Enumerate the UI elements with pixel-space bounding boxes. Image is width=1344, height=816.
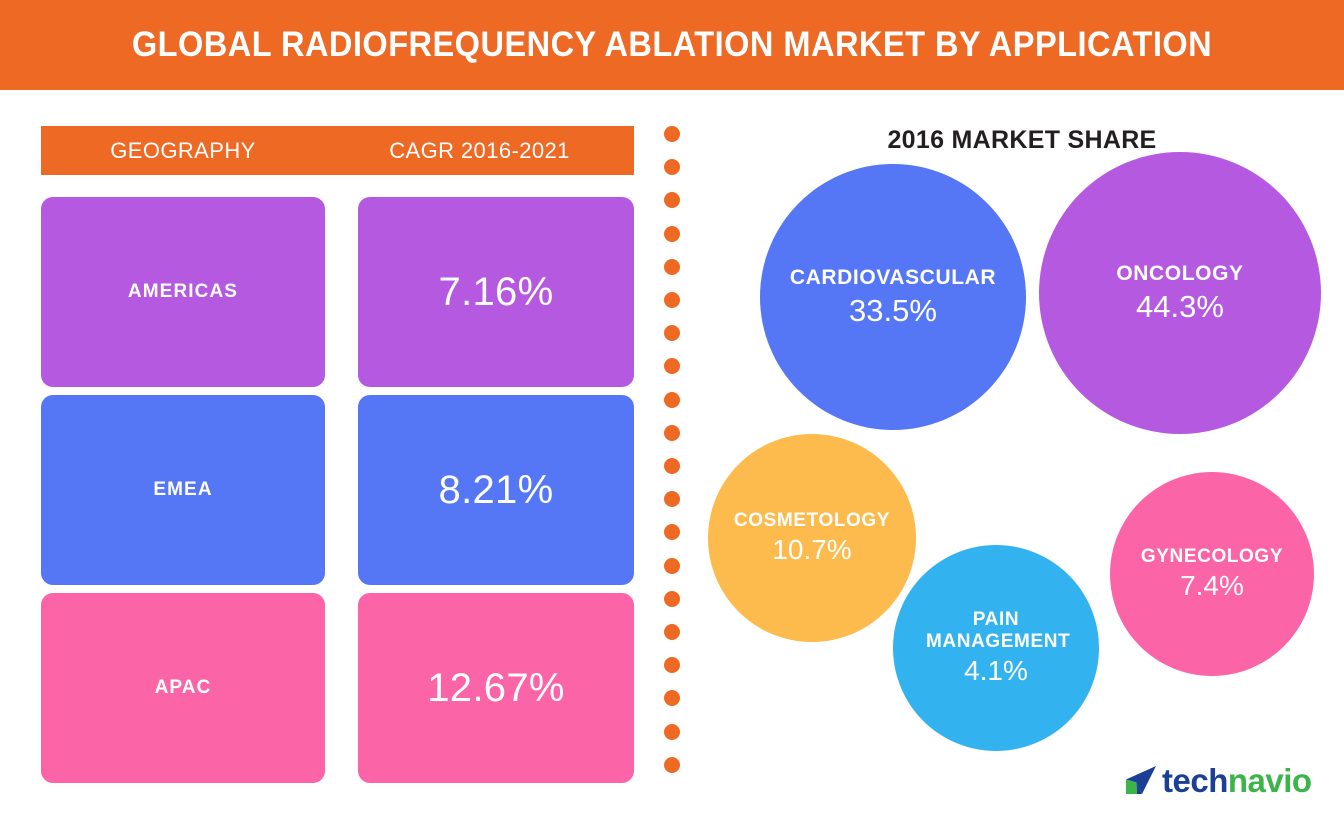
- bubble-label: PAIN MANAGEMENT: [926, 609, 1066, 652]
- bubble-chart-title: 2016 MARKET SHARE: [702, 126, 1342, 160]
- infographic-page: GLOBAL RADIOFREQUENCY ABLATION MARKET BY…: [0, 0, 1344, 816]
- table-row: APAC 12.67%: [41, 593, 634, 783]
- bubble-pain-management: PAIN MANAGEMENT 4.1%: [893, 545, 1099, 751]
- divider-dot: [664, 259, 680, 275]
- bubble-value: 4.1%: [964, 656, 1028, 687]
- bubble-label: GYNECOLOGY: [1117, 546, 1307, 567]
- column-header-geography: GEOGRAPHY: [41, 126, 325, 175]
- cell-geography: AMERICAS: [41, 197, 325, 387]
- bubble-label: ONCOLOGY: [1080, 262, 1280, 286]
- technavio-wordmark: technavio: [1162, 764, 1312, 797]
- table-row: EMEA 8.21%: [41, 395, 634, 585]
- bubble-oncology: ONCOLOGY 44.3%: [1039, 152, 1321, 434]
- cell-geography: APAC: [41, 593, 325, 783]
- divider-dot: [664, 425, 680, 441]
- dotted-divider: [664, 126, 681, 790]
- divider-dot: [664, 491, 680, 507]
- technavio-arrow-icon: [1120, 760, 1160, 800]
- divider-dot: [664, 724, 680, 740]
- divider-dot: [664, 690, 680, 706]
- divider-dot: [664, 591, 680, 607]
- divider-dot: [664, 292, 680, 308]
- divider-dot: [664, 757, 680, 773]
- technavio-logo: technavio: [1120, 757, 1325, 803]
- divider-dot: [664, 558, 680, 574]
- cell-cagr: 12.67%: [358, 593, 634, 783]
- divider-dot: [664, 392, 680, 408]
- bubble-cardiovascular: CARDIOVASCULAR 33.5%: [760, 164, 1026, 430]
- bubble-label: CARDIOVASCULAR: [783, 266, 1003, 290]
- divider-dot: [664, 325, 680, 341]
- logo-text-navio: navio: [1228, 762, 1312, 799]
- bubble-value: 44.3%: [1136, 290, 1224, 324]
- divider-dot: [664, 458, 680, 474]
- divider-dot: [664, 192, 680, 208]
- divider-dot: [664, 159, 680, 175]
- cell-cagr: 7.16%: [358, 197, 634, 387]
- bubble-value: 33.5%: [849, 294, 937, 328]
- bubble-gynecology: GYNECOLOGY 7.4%: [1110, 472, 1314, 676]
- cell-cagr: 8.21%: [358, 395, 634, 585]
- divider-dot: [664, 126, 680, 142]
- table-row: AMERICAS 7.16%: [41, 197, 634, 387]
- bubble-label: COSMETOLOGY: [712, 510, 912, 531]
- divider-dot: [664, 226, 680, 242]
- cagr-table: GEOGRAPHY CAGR 2016-2021 AMERICAS 7.16% …: [41, 126, 634, 790]
- bubble-cosmetology: COSMETOLOGY 10.7%: [708, 434, 916, 642]
- logo-text-tech: tech: [1162, 762, 1228, 799]
- cell-geography: EMEA: [41, 395, 325, 585]
- column-header-cagr: CAGR 2016-2021: [325, 126, 634, 175]
- bubble-value: 7.4%: [1180, 571, 1244, 602]
- page-title: GLOBAL RADIOFREQUENCY ABLATION MARKET BY…: [47, 0, 1297, 90]
- bubble-value: 10.7%: [772, 535, 851, 566]
- table-header-row: GEOGRAPHY CAGR 2016-2021: [41, 126, 634, 175]
- divider-dot: [664, 657, 680, 673]
- divider-dot: [664, 524, 680, 540]
- divider-dot: [664, 358, 680, 374]
- divider-dot: [664, 624, 680, 640]
